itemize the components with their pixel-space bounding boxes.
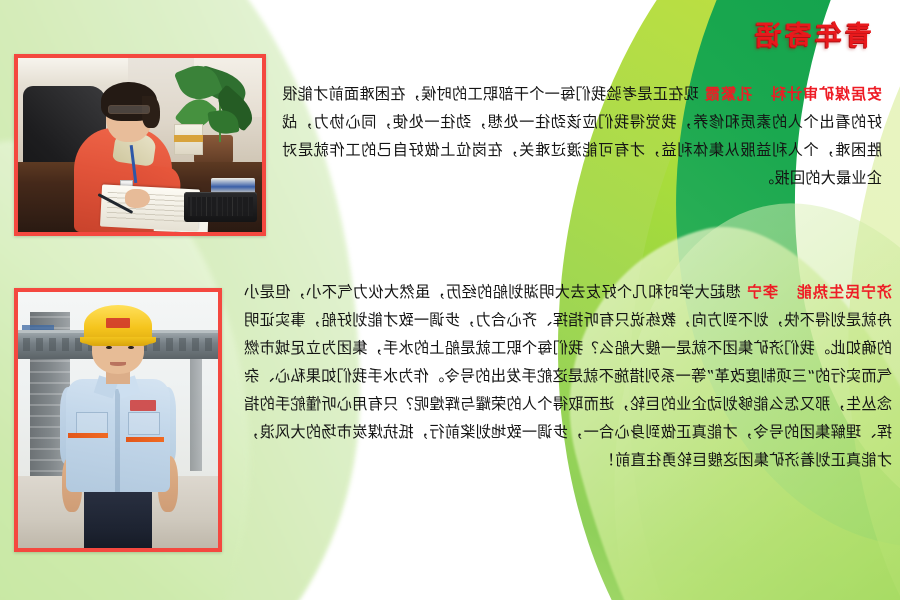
article-1-content: 安居煤矿审计科孔繁霞 现在正是考验我们每一个干部职工的时候，在困难面前才能很好的…: [282, 80, 882, 192]
article-2-byline-name: 李宁: [746, 283, 778, 301]
photo-woman-at-desk-image: [18, 58, 262, 232]
photo-woman-at-desk: [14, 54, 266, 236]
company-logo-patch: [130, 400, 156, 412]
woman-hand: [125, 189, 149, 208]
page-title: 青年寄语: [752, 14, 872, 53]
hard-hat-brim: [80, 337, 156, 346]
article-1-byline-name: 孔繁霞: [704, 85, 752, 103]
shirt-placket: [115, 389, 120, 491]
article-1: 安居煤矿审计科孔繁霞 现在正是考验我们每一个干部职工的时候，在困难面前才能很好的…: [282, 80, 882, 192]
woman-glasses: [108, 105, 149, 114]
keyboard-keys: [188, 197, 252, 216]
photo-worker-hardhat-image: [18, 292, 218, 548]
office-ceiling: [18, 58, 128, 86]
keyboard: [184, 192, 257, 222]
article-1-byline-org: 安居煤矿审计科: [770, 85, 882, 103]
article-2-byline: 济宁民生热能李宁: [746, 278, 892, 306]
photo-worker-hardhat: [14, 288, 222, 552]
worker-trousers: [84, 487, 152, 548]
folder-band: [174, 135, 203, 142]
hard-hat-logo: [106, 318, 130, 328]
article-2-content: 济宁民生热能李宁 想起大学时和几个好友去大明湖划船的经历，虽然大伙力气不小，但是…: [244, 278, 892, 474]
reflective-stripe-right: [68, 433, 108, 439]
shirt-pocket-left: [128, 412, 160, 435]
article-2-body: 想起大学时和几个好友去大明湖划船的经历，虽然大伙力气不小，但是小舟就是划得不快，…: [244, 283, 892, 469]
worker-mouth: [110, 362, 126, 366]
article-2-byline-org: 济宁民生热能: [796, 283, 892, 301]
article-2: 济宁民生热能李宁 想起大学时和几个好友去大明湖划船的经历，虽然大伙力气不小，但是…: [244, 278, 892, 474]
reflective-stripe-left: [126, 437, 164, 443]
article-1-byline: 安居煤矿审计科孔繁霞: [704, 80, 882, 108]
book-text-lines: [106, 191, 193, 224]
newsletter-page: 青年寄语 安居煤矿审计科孔繁霞 现在正是考验我们每一个干部职工的时候，在困难面前…: [0, 0, 900, 600]
